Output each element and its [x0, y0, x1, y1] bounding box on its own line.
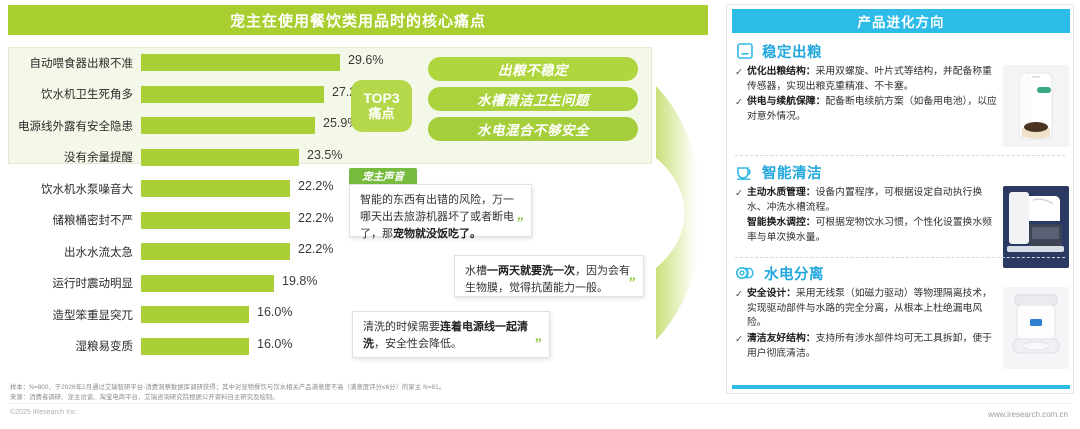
- quote-bubble-2: 水槽一两天就要洗一次，因为会有生物膜，觉得抗菌能力一般。 ”: [454, 255, 644, 297]
- bar-row: 饮水机水泵噪音大22.2%: [0, 173, 400, 205]
- bar-row: 储粮桶密封不严22.2%: [0, 205, 400, 237]
- bullet-text: 优化出粮结构：采用双螺旋、叶片式等结构，并配备称重传感器，实现出粮克重精准、不卡…: [747, 65, 997, 94]
- footer-divider: [8, 403, 1072, 404]
- quote-bubble-3: 清洗的时候需要连着电源线一起清洗，安全性会降低。 ”: [352, 311, 550, 358]
- bar-label: 出水水流太急: [0, 244, 133, 260]
- section-divider: [735, 257, 1065, 258]
- section-stable-feeding: 稳定出粮 ✓优化出粮结构：采用双螺旋、叶片式等结构，并配备称重传感器，实现出粮克…: [735, 39, 1069, 157]
- bar-row: 湿粮易变质16.0%: [0, 331, 400, 363]
- right-title-text: 产品进化方向: [858, 11, 945, 31]
- left-title-text: 宠主在使用餐饮类用品时的核心痛点: [230, 10, 486, 31]
- bar-label: 饮水机水泵噪音大: [0, 181, 133, 197]
- pet-feeder-photo: [1003, 65, 1069, 147]
- section-bullets: ✓安全设计：采用无线泵（如磁力驱动）等物理隔离技术，实现驱动部件与水路的完全分离…: [735, 287, 997, 369]
- bar-fill: [141, 86, 324, 103]
- quote-text: 智能的东西有出错的风险，万一哪天出去旅游机器坏了或者断电了，那宠物就没饭吃了。: [360, 194, 514, 240]
- bar-track: [141, 149, 299, 166]
- bullet-item: ✓供电与续航保障：配备断电续航方案（如备用电池），以应对意外情况。: [735, 95, 997, 124]
- bar-label: 湿粮易变质: [0, 338, 133, 354]
- bar-label: 自动喂食器出粮不准: [0, 55, 133, 71]
- water-cup-icon: [735, 162, 755, 182]
- bar-fill: [141, 306, 249, 323]
- quote-text: 清洗的时候需要连着电源线一起清洗，安全性会降低。: [363, 321, 528, 350]
- top3-badge: TOP3 痛点: [351, 80, 412, 132]
- bar-row: 运行时震动明显19.8%: [0, 268, 400, 300]
- bar-value: 16.0%: [257, 337, 292, 351]
- bar-track: [141, 86, 324, 103]
- bullet-item: ✓清洁友好结构：支持所有涉水部件均可无工具拆卸，便于用户彻底清洁。: [735, 332, 997, 361]
- footnote-source: 来源：消费者调研、宠主访谈、淘宝电商平台、艾瑞咨询研究院根据公开资料自主研究及绘…: [10, 392, 279, 401]
- bar-label: 饮水机卫生死角多: [0, 86, 133, 102]
- section-title: 稳定出粮: [762, 41, 822, 62]
- check-icon: ✓: [735, 65, 743, 94]
- feeder-icon: [735, 41, 755, 61]
- bar-value: 16.0%: [257, 305, 292, 319]
- section-header: 稳定出粮: [735, 39, 1069, 63]
- bar-track: [141, 338, 249, 355]
- top3-tag: 出粮不稳定: [428, 57, 638, 81]
- bar-value: 22.2%: [298, 211, 333, 225]
- pet-owner-voice-tab: 宠主声音: [349, 168, 417, 185]
- right-title-bar: 产品进化方向: [732, 9, 1070, 33]
- bullet-text: 主动水质管理：设备内置程序，可根据设定自动执行换水、冲洗水槽流程。: [747, 186, 997, 215]
- top3-tag: 水电混合不够安全: [428, 117, 638, 141]
- bar-fill: [141, 243, 290, 260]
- water-dispenser-photo: [1003, 186, 1069, 268]
- bullet-item: 智能换水调控：可根据宠物饮水习惯，个性化设置换水频率与单次换水量。: [735, 216, 997, 245]
- bar-label: 造型笨重显突兀: [0, 307, 133, 323]
- bar-fill: [141, 275, 274, 292]
- check-icon: ✓: [735, 186, 743, 215]
- bar-track: [141, 54, 340, 71]
- infographic-root: 宠主在使用餐饮类用品时的核心痛点 自动喂食器出粮不准29.6%饮水机卫生死角多2…: [0, 0, 1080, 429]
- bar-label: 电源线外露有安全隐患: [0, 118, 133, 134]
- bar-fill: [141, 180, 290, 197]
- bar-fill: [141, 338, 249, 355]
- water-power-separation-icon: [735, 263, 757, 283]
- section-body: ✓安全设计：采用无线泵（如磁力驱动）等物理隔离技术，实现驱动部件与水路的完全分离…: [735, 287, 1069, 369]
- left-panel: 宠主在使用餐饮类用品时的核心痛点 自动喂食器出粮不准29.6%饮水机卫生死角多2…: [0, 0, 712, 429]
- bar-track: [141, 306, 249, 323]
- bar-value: 19.8%: [282, 274, 317, 288]
- quote-text: 水槽一两天就要洗一次，因为会有生物膜，觉得抗菌能力一般。: [465, 265, 630, 294]
- bar-row: 自动喂食器出粮不准29.6%: [0, 47, 400, 79]
- bar-label: 储粮桶密封不严: [0, 212, 133, 228]
- bar-row: 电源线外露有安全隐患25.9%: [0, 110, 400, 142]
- quote-mark-icon: ”: [534, 333, 541, 355]
- bullet-text: 清洁友好结构：支持所有涉水部件均可无工具拆卸，便于用户彻底清洁。: [747, 332, 997, 361]
- bullet-item: ✓优化出粮结构：采用双螺旋、叶片式等结构，并配备称重传感器，实现出粮克重精准、不…: [735, 65, 997, 94]
- quote-mark-icon: ”: [628, 272, 635, 294]
- section-title: 智能清洁: [762, 162, 822, 183]
- bar-row: 饮水机卫生死角多27.2%: [0, 79, 400, 111]
- top3-tag-list: 出粮不稳定水槽清洁卫生问题水电混合不够安全: [428, 57, 638, 147]
- bullet-text: 智能换水调控：可根据宠物饮水习惯，个性化设置换水频率与单次换水量。: [747, 216, 997, 245]
- bar-value: 23.5%: [307, 148, 342, 162]
- check-icon: ✓: [735, 95, 743, 124]
- section-header: 水电分离: [735, 261, 1069, 285]
- pet-owner-voice-label: 宠主声音: [362, 169, 404, 184]
- section-body: ✓主动水质管理：设备内置程序，可根据设定自动执行换水、冲洗水槽流程。智能换水调控…: [735, 186, 1069, 268]
- bar-label: 没有余量提醒: [0, 149, 133, 165]
- bar-value: 22.2%: [298, 242, 333, 256]
- bullet-text: 供电与续航保障：配备断电续航方案（如备用电池），以应对意外情况。: [747, 95, 997, 124]
- copyright-text: ©2025 iResearch Inc.: [10, 409, 77, 416]
- bar-fill: [141, 212, 290, 229]
- bullet-text: 安全设计：采用无线泵（如磁力驱动）等物理隔离技术，实现驱动部件与水路的完全分离，…: [747, 287, 997, 331]
- check-icon: ✓: [735, 287, 743, 331]
- bar-fill: [141, 54, 340, 71]
- bar-track: [141, 275, 274, 292]
- top3-badge-line1: TOP3: [363, 90, 399, 106]
- pet-water-fountain-photo: [1003, 287, 1069, 369]
- section-water-power-separation: 水电分离 ✓安全设计：采用无线泵（如磁力驱动）等物理隔离技术，实现驱动部件与水路…: [735, 261, 1069, 379]
- bar-label: 运行时震动明显: [0, 275, 133, 291]
- section-body: ✓优化出粮结构：采用双螺旋、叶片式等结构，并配备称重传感器，实现出粮克重精准、不…: [735, 65, 1069, 147]
- top3-badge-line2: 痛点: [368, 107, 394, 122]
- website-url: www.iresearch.com.cn: [988, 410, 1068, 419]
- left-title-bar: 宠主在使用餐饮类用品时的核心痛点: [8, 5, 708, 35]
- bar-value: 29.6%: [348, 53, 383, 67]
- right-panel: 产品进化方向 稳定出粮 ✓优化出粮结构：采用双螺旋、叶片式等结构，并配备称重传感…: [726, 4, 1074, 394]
- section-header: 智能清洁: [735, 160, 1069, 184]
- top3-tag: 水槽清洁卫生问题: [428, 87, 638, 111]
- bar-row: 造型笨重显突兀16.0%: [0, 299, 400, 331]
- quote-bubble-1: 智能的东西有出错的风险，万一哪天出去旅游机器坏了或者断电了，那宠物就没饭吃了。 …: [349, 184, 532, 237]
- right-panel-bottom-bar: [732, 385, 1070, 389]
- section-bullets: ✓主动水质管理：设备内置程序，可根据设定自动执行换水、冲洗水槽流程。智能换水调控…: [735, 186, 997, 268]
- bullet-item: ✓主动水质管理：设备内置程序，可根据设定自动执行换水、冲洗水槽流程。: [735, 186, 997, 215]
- section-title: 水电分离: [764, 263, 824, 284]
- bar-fill: [141, 117, 315, 134]
- check-icon: ✓: [735, 332, 743, 361]
- section-smart-cleaning: 智能清洁 ✓主动水质管理：设备内置程序，可根据设定自动执行换水、冲洗水槽流程。智…: [735, 160, 1069, 258]
- bar-value: 22.2%: [298, 179, 333, 193]
- bar-fill: [141, 149, 299, 166]
- bar-track: [141, 212, 290, 229]
- footnote-sample: 样本：N=800，于2026年2月通过艾瑞智研平台-消费洞察数据库调研获得；其中…: [10, 382, 445, 391]
- bullet-item: ✓安全设计：采用无线泵（如磁力驱动）等物理隔离技术，实现驱动部件与水路的完全分离…: [735, 287, 997, 331]
- pain-point-bar-chart: 自动喂食器出粮不准29.6%饮水机卫生死角多27.2%电源线外露有安全隐患25.…: [0, 47, 400, 362]
- bar-track: [141, 180, 290, 197]
- quote-mark-icon: ”: [516, 212, 523, 234]
- section-bullets: ✓优化出粮结构：采用双螺旋、叶片式等结构，并配备称重传感器，实现出粮克重精准、不…: [735, 65, 997, 147]
- section-divider: [735, 155, 1065, 156]
- bar-track: [141, 117, 315, 134]
- green-ribbon-connector: [648, 40, 728, 390]
- bar-row: 没有余量提醒23.5%: [0, 142, 400, 174]
- bar-row: 出水水流太急22.2%: [0, 236, 400, 268]
- bar-track: [141, 243, 290, 260]
